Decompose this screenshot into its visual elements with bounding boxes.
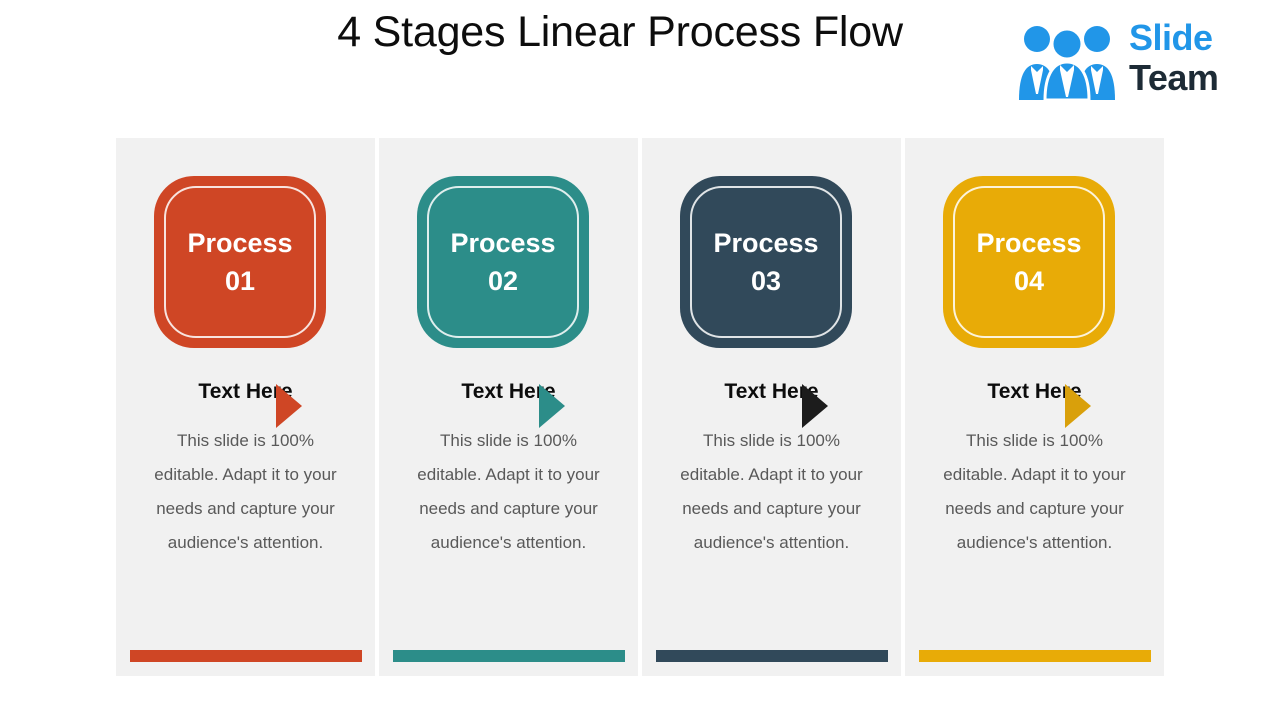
stage-bottom-bar-2 bbox=[393, 650, 625, 662]
arrow-right-icon-3 bbox=[802, 384, 828, 428]
stage-badge-wrap-1: Process 01 bbox=[116, 138, 375, 338]
arrow-right-icon-2 bbox=[539, 384, 565, 428]
stage-badge-1[interactable]: Process 01 bbox=[154, 176, 326, 348]
arrow-right-icon-1 bbox=[276, 384, 302, 428]
stage-badge-2[interactable]: Process 02 bbox=[417, 176, 589, 348]
slide-canvas: 4 Stages Linear Process Flow Slide Team bbox=[0, 0, 1280, 720]
stage-body-3: This slide is 100% editable. Adapt it to… bbox=[672, 424, 872, 560]
logo-word-slide: Slide bbox=[1129, 20, 1218, 56]
stage-badge-label-4: Process 04 bbox=[976, 224, 1081, 301]
stage-panel-4[interactable]: Process 04 Text Here This slide is 100% … bbox=[905, 138, 1164, 676]
stage-heading-2: Text Here bbox=[379, 380, 638, 404]
stage-body-2: This slide is 100% editable. Adapt it to… bbox=[409, 424, 609, 560]
stage-badge-3[interactable]: Process 03 bbox=[680, 176, 852, 348]
stage-panel-2[interactable]: Process 02 Text Here This slide is 100% … bbox=[379, 138, 638, 676]
stage-panel-1[interactable]: Process 01 Text Here This slide is 100% … bbox=[116, 138, 375, 676]
stage-heading-4: Text Here bbox=[905, 380, 1164, 404]
logo-wordmark: Slide Team bbox=[1129, 20, 1218, 96]
stage-badge-wrap-2: Process 02 bbox=[379, 138, 638, 338]
process-flow-container: Process 01 Text Here This slide is 100% … bbox=[116, 138, 1165, 676]
stage-badge-wrap-4: Process 04 bbox=[905, 138, 1164, 338]
stage-body-1: This slide is 100% editable. Adapt it to… bbox=[146, 424, 346, 560]
stage-body-4: This slide is 100% editable. Adapt it to… bbox=[935, 424, 1135, 560]
stage-badge-label-1: Process 01 bbox=[187, 224, 292, 301]
logo-word-team: Team bbox=[1129, 60, 1218, 96]
slideteam-logo: Slide Team bbox=[1017, 16, 1262, 106]
stage-bottom-bar-3 bbox=[656, 650, 888, 662]
stage-panel-3[interactable]: Process 03 Text Here This slide is 100% … bbox=[642, 138, 901, 676]
stage-badge-wrap-3: Process 03 bbox=[642, 138, 901, 338]
stage-badge-label-2: Process 02 bbox=[450, 224, 555, 301]
stage-badge-4[interactable]: Process 04 bbox=[943, 176, 1115, 348]
arrow-right-icon-4 bbox=[1065, 384, 1091, 428]
stage-heading-1: Text Here bbox=[116, 380, 375, 404]
three-people-icon bbox=[1017, 22, 1117, 100]
stage-badge-label-3: Process 03 bbox=[713, 224, 818, 301]
stage-heading-3: Text Here bbox=[642, 380, 901, 404]
stage-bottom-bar-4 bbox=[919, 650, 1151, 662]
stage-bottom-bar-1 bbox=[130, 650, 362, 662]
